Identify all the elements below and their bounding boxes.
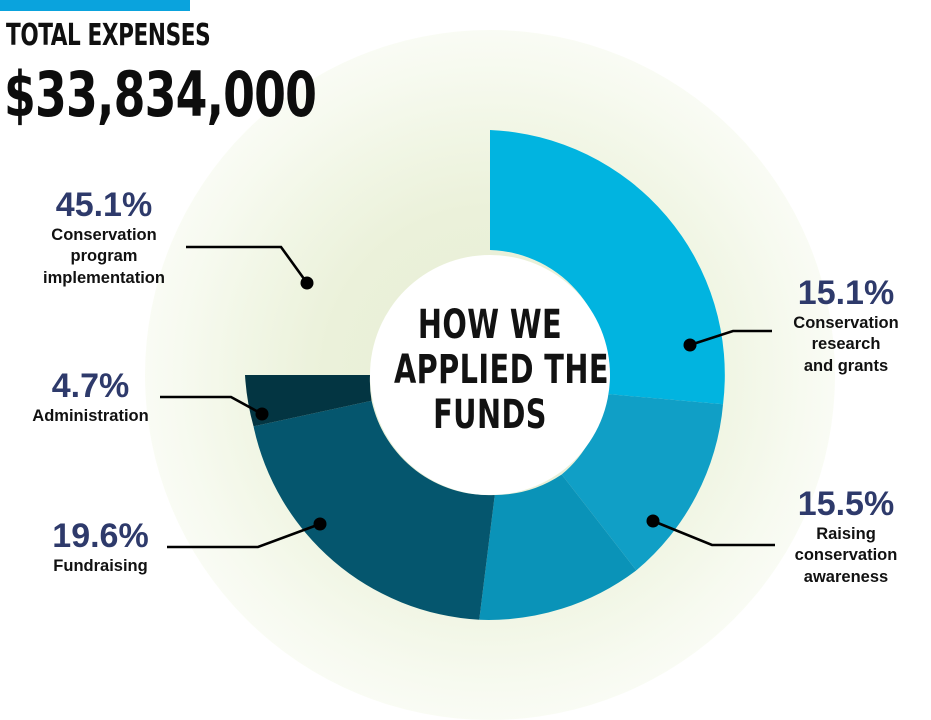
callout-percent: 15.5% [770, 487, 922, 522]
callout-description: Conservation research and grants [770, 313, 922, 376]
callout-percent: 15.1% [770, 276, 922, 311]
leader-line-conservation-program-implementation [186, 247, 314, 290]
callout-desc-line-1: Conservation [770, 313, 922, 334]
callout-description: Conservation program implementation [14, 225, 194, 288]
callout-description: Fundraising [18, 556, 183, 577]
callout-desc-line-3: implementation [14, 268, 194, 289]
infographic-root: TOTAL EXPENSES $33,834,000 [0, 0, 931, 713]
callout-conservation-program-implementation[interactable]: 45.1% Conservation program implementatio… [14, 188, 194, 289]
callout-desc-line-2: conservation [770, 545, 922, 566]
callout-desc-line-1: Administration [8, 406, 173, 427]
callout-administration[interactable]: 4.7% Administration [8, 369, 173, 427]
callout-description: Raising conservation awareness [770, 524, 922, 587]
callout-raising-conservation-awareness[interactable]: 15.5% Raising conservation awareness [770, 487, 922, 588]
callout-desc-line-3: awareness [770, 567, 922, 588]
callout-percent: 4.7% [8, 369, 173, 404]
callout-fundraising[interactable]: 19.6% Fundraising [18, 519, 183, 577]
callout-percent: 45.1% [14, 188, 194, 223]
callout-desc-line-1: Raising [770, 524, 922, 545]
callout-conservation-research-and-grants[interactable]: 15.1% Conservation research and grants [770, 276, 922, 377]
callout-desc-line-2: program [14, 246, 194, 267]
callout-desc-line-1: Conservation [14, 225, 194, 246]
callout-desc-line-1: Fundraising [18, 556, 183, 577]
callout-desc-line-2: research [770, 334, 922, 355]
callout-description: Administration [8, 406, 173, 427]
callout-desc-line-3: and grants [770, 356, 922, 377]
callout-percent: 19.6% [18, 519, 183, 554]
donut-center-hole [370, 255, 610, 495]
